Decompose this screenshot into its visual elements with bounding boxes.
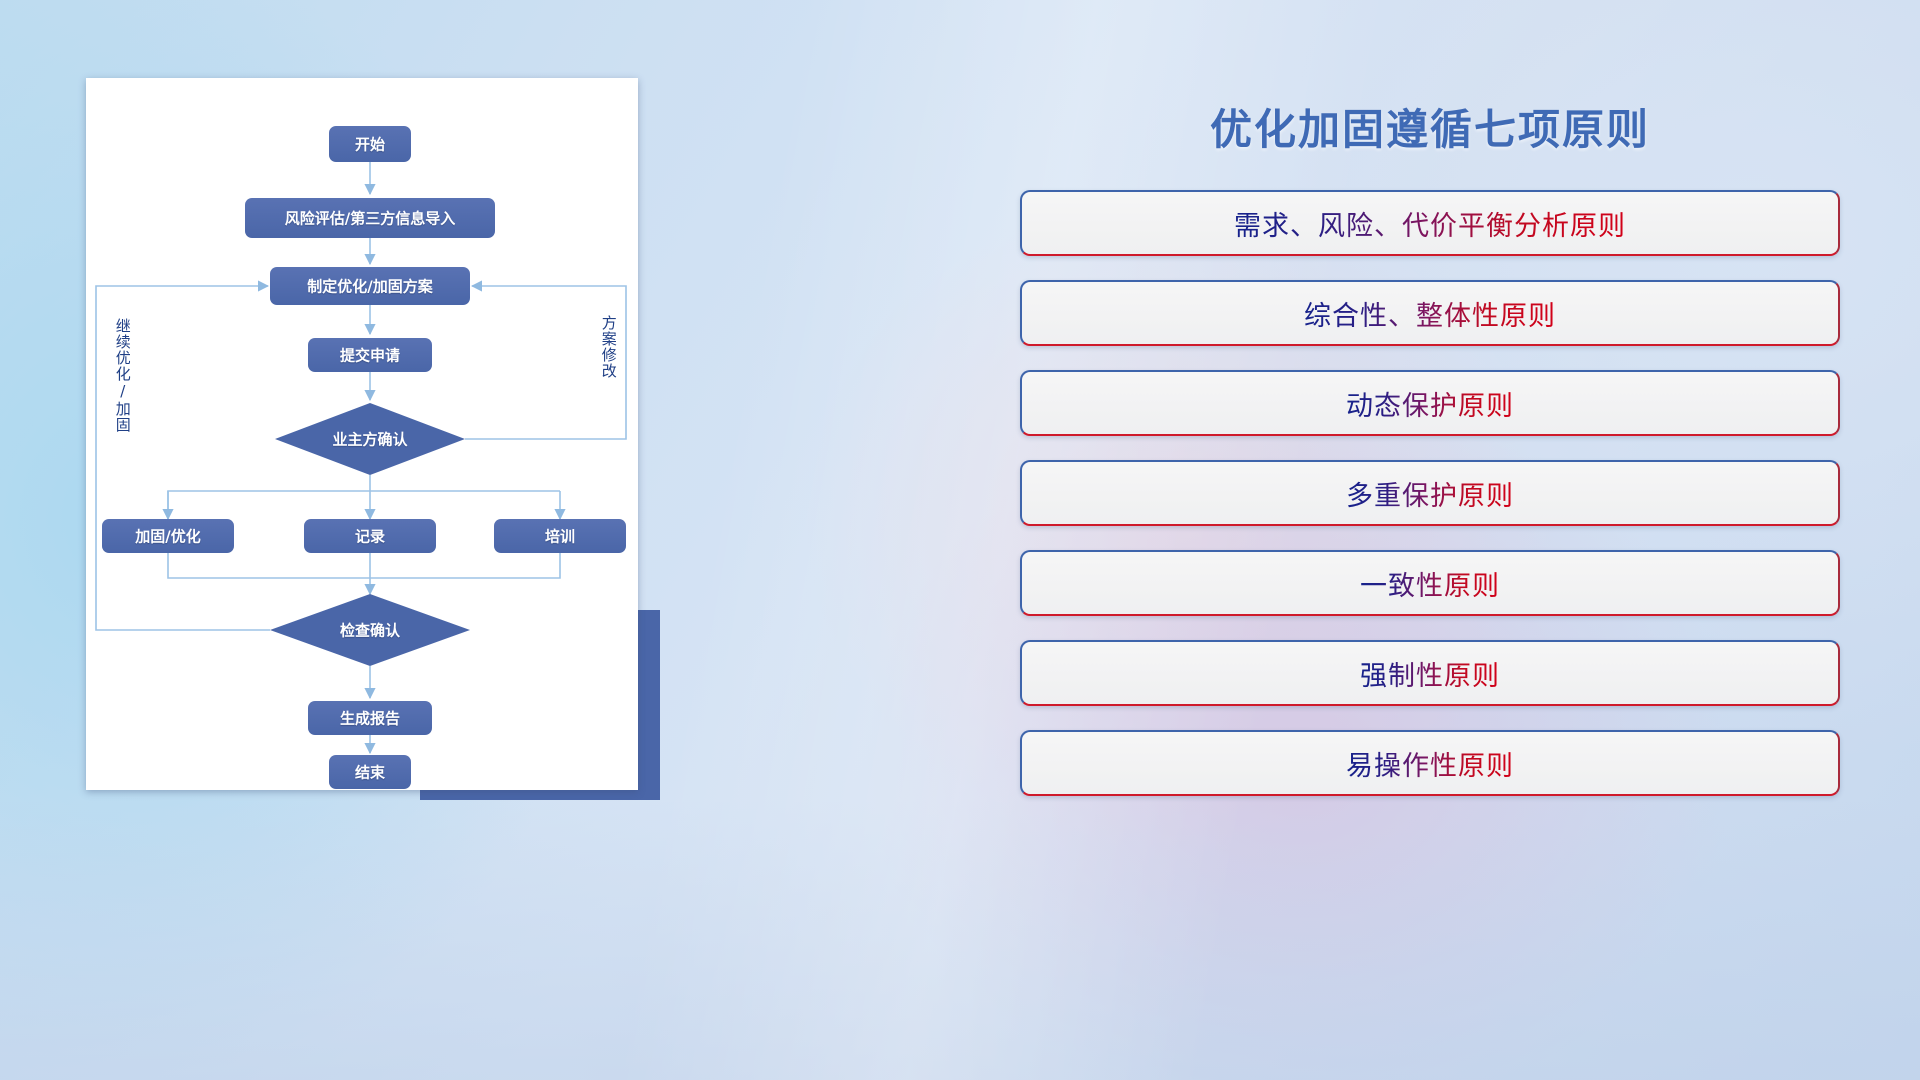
principle-label: 动态保护原则 bbox=[1346, 384, 1514, 423]
edge-label-continue-optimize: 继续优化/加固 bbox=[114, 318, 130, 433]
node-reinforce-optimize[interactable] bbox=[102, 519, 234, 553]
node-make-plan[interactable] bbox=[270, 267, 470, 305]
principle-label: 综合性、整体性原则 bbox=[1304, 294, 1556, 333]
principle-label: 需求、风险、代价平衡分析原则 bbox=[1234, 204, 1626, 243]
principle-item[interactable]: 综合性、整体性原则 bbox=[1020, 280, 1840, 346]
principle-item[interactable]: 易操作性原则 bbox=[1020, 730, 1840, 796]
node-start[interactable] bbox=[329, 126, 411, 162]
edge-label-plan-revision: 方案修改 bbox=[600, 315, 616, 379]
node-training[interactable] bbox=[494, 519, 626, 553]
node-submit-application[interactable] bbox=[308, 338, 432, 372]
branch-bus-bottom bbox=[168, 553, 560, 578]
principle-item[interactable]: 一致性原则 bbox=[1020, 550, 1840, 616]
principle-label: 易操作性原则 bbox=[1346, 744, 1514, 783]
node-end[interactable] bbox=[329, 755, 411, 789]
principle-item[interactable]: 多重保护原则 bbox=[1020, 460, 1840, 526]
principle-label: 多重保护原则 bbox=[1346, 474, 1514, 513]
node-risk-assessment[interactable] bbox=[245, 198, 495, 238]
page-title: 优化加固遵循七项原则 bbox=[1020, 96, 1840, 157]
node-check-confirm[interactable] bbox=[270, 594, 470, 666]
node-record[interactable] bbox=[304, 519, 436, 553]
node-generate-report[interactable] bbox=[308, 701, 432, 735]
node-owner-confirm[interactable] bbox=[275, 403, 465, 475]
flow-nodes bbox=[102, 126, 626, 789]
branch-bus-top bbox=[168, 491, 560, 519]
flowchart-diagram bbox=[86, 78, 638, 790]
principle-item[interactable]: 强制性原则 bbox=[1020, 640, 1840, 706]
principles-panel: 优化加固遵循七项原则 需求、风险、代价平衡分析原则 综合性、整体性原则 动态保护… bbox=[1020, 80, 1840, 1010]
principle-item[interactable]: 需求、风险、代价平衡分析原则 bbox=[1020, 190, 1840, 256]
principle-label: 一致性原则 bbox=[1360, 564, 1500, 603]
principle-item[interactable]: 动态保护原则 bbox=[1020, 370, 1840, 436]
principle-label: 强制性原则 bbox=[1360, 654, 1500, 693]
principle-list: 需求、风险、代价平衡分析原则 综合性、整体性原则 动态保护原则 多重保护原则 一… bbox=[1020, 190, 1840, 820]
